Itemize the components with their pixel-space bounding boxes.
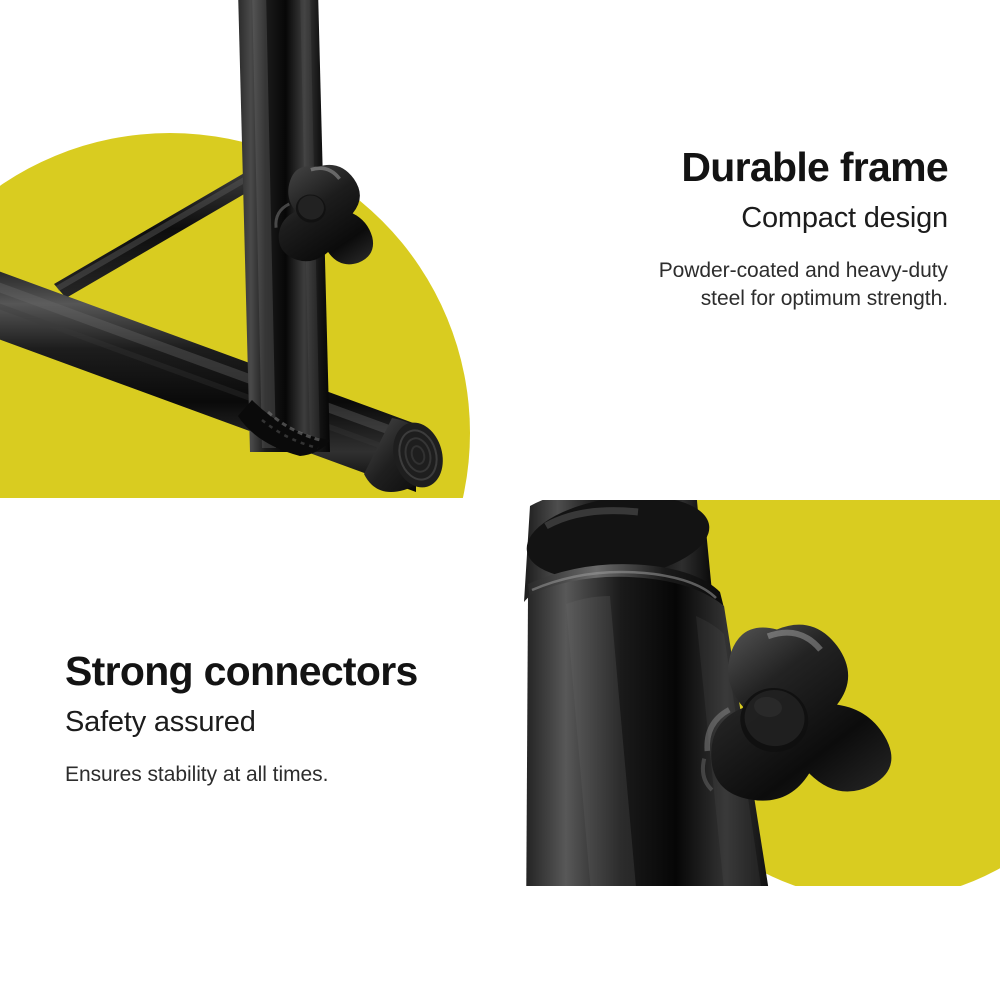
body-line-1: Powder-coated and heavy-duty bbox=[659, 257, 948, 286]
text-panel-durable-frame: Durable frame Compact design Powder-coat… bbox=[500, 0, 1000, 500]
frame-joint-illustration bbox=[0, 0, 500, 500]
headline-durable-frame: Durable frame bbox=[681, 146, 948, 189]
body-copy-durable-frame: Powder-coated and heavy-duty steel for o… bbox=[659, 257, 948, 315]
product-feature-collage: Durable frame Compact design Powder-coat… bbox=[0, 0, 1000, 1000]
headline-strong-connectors: Strong connectors bbox=[65, 650, 418, 693]
diagonal-brace-part bbox=[54, 172, 258, 298]
body-line-2: steel for optimum strength. bbox=[659, 285, 948, 314]
photo-panel-frame-joint bbox=[0, 0, 500, 500]
panel-bottom-mask bbox=[500, 886, 1000, 1000]
body-line-1: Ensures stability at all times. bbox=[65, 761, 328, 790]
photo-panel-knob-connector bbox=[500, 500, 1000, 1000]
horizontal-tube-part bbox=[0, 268, 416, 492]
tri-lobe-knob-part bbox=[699, 614, 908, 819]
body-copy-strong-connectors: Ensures stability at all times. bbox=[65, 761, 328, 790]
text-panel-strong-connectors: Strong connectors Safety assured Ensures… bbox=[0, 500, 500, 1000]
subhead-safety-assured: Safety assured bbox=[65, 707, 256, 739]
subhead-compact-design: Compact design bbox=[741, 203, 948, 235]
